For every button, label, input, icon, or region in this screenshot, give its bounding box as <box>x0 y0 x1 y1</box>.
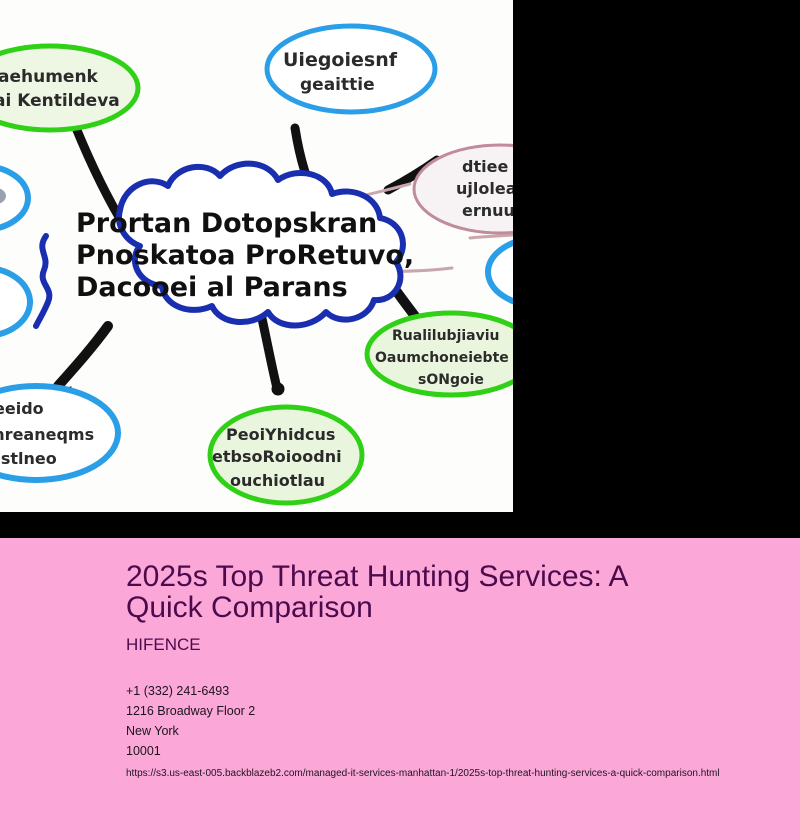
node-bottom-center-line-2: etbsoRoioodni <box>212 447 342 466</box>
contact-block: +1 (332) 241-6493 1216 Broadway Floor 2 … <box>126 681 786 761</box>
contact-zip: 10001 <box>126 741 786 761</box>
contact-phone[interactable]: +1 (332) 241-6493 <box>126 681 786 701</box>
central-node-line-2: Pnoskatoa ProRetuvo, <box>76 240 414 271</box>
mindmap-node-top-center: Uiegoiesnf geaittie <box>267 26 435 112</box>
node-right-green-line-2: Oaumchoneiebte <box>375 350 509 366</box>
node-right-upper-line-1: dtiee <box>462 157 508 176</box>
node-bottom-left-line-1: eeido <box>0 399 44 418</box>
page-root: Prortan Dotopskran Pnoskatoa ProRetuvo, … <box>0 0 800 840</box>
node-right-upper-line-3: ernuua <box>462 201 513 220</box>
node-bottom-left-line-2: mreaneqms <box>0 425 94 444</box>
source-url-link[interactable]: https://s3.us-east-005.backblazeb2.com/m… <box>126 767 786 781</box>
central-node-line-3: Dacooei al Parans <box>76 272 348 303</box>
node-bottom-center-line-1: PeoiYhidcus <box>226 425 335 444</box>
page-title: 2025s Top Threat Hunting Services: A Qui… <box>126 561 686 623</box>
central-node-line-1: Prortan Dotopskran <box>76 208 377 239</box>
article-card: 2025s Top Threat Hunting Services: A Qui… <box>0 538 800 840</box>
article-card-inner: 2025s Top Threat Hunting Services: A Qui… <box>126 561 786 781</box>
node-top-left-line-2: ai Kentildeva <box>0 91 120 111</box>
node-top-left-line-1: aehumenk <box>0 67 99 87</box>
node-right-upper-line-2: ujloleaie <box>456 179 513 198</box>
hero-band: Prortan Dotopskran Pnoskatoa ProRetuvo, … <box>0 0 800 538</box>
contact-address-line1: 1216 Broadway Floor 2 <box>126 701 786 721</box>
mindmap-node-top-left: aehumenk ai Kentildeva <box>0 46 138 130</box>
node-bottom-center-line-3: ouchiotlau <box>230 471 325 490</box>
node-top-left-ellipse <box>0 46 138 130</box>
node-top-center-line-1: Uiegoiesnf <box>283 49 398 71</box>
mindmap-svg: Prortan Dotopskran Pnoskatoa ProRetuvo, … <box>0 0 513 512</box>
node-top-center-line-2: geaittie <box>300 75 375 95</box>
node-right-green-line-3: sONgoie <box>418 372 484 388</box>
mindmap-node-right-green: Rualilubjiaviu Oaumchoneiebte sONgoie <box>367 313 513 395</box>
contact-city: New York <box>126 721 786 741</box>
connector-dot-bottom-center <box>272 383 284 395</box>
node-bottom-left-line-3: estlneo <box>0 449 57 468</box>
node-right-green-line-1: Rualilubjiaviu <box>392 328 500 344</box>
mindmap-illustration: Prortan Dotopskran Pnoskatoa ProRetuvo, … <box>0 0 513 512</box>
mindmap-node-bottom-center: PeoiYhidcus etbsoRoioodni ouchiotlau <box>210 407 362 503</box>
brand-name: HIFENCE <box>126 635 786 655</box>
